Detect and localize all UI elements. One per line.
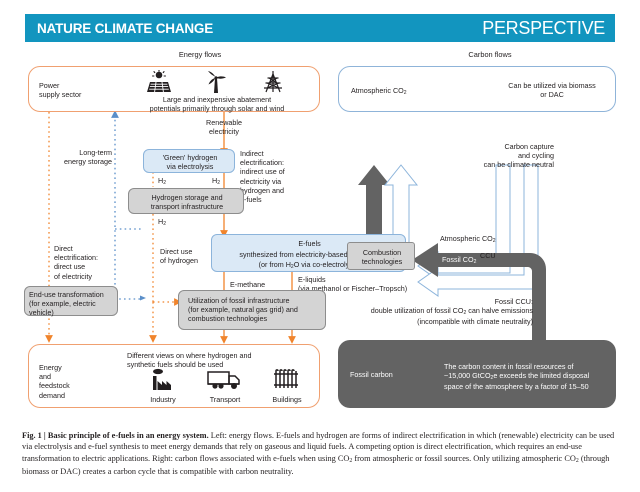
fossil-carbon-label: Fossil carbon	[350, 370, 393, 379]
combustion-technologies-label: Combustion technologies	[348, 248, 416, 266]
journal-name: NATURE CLIMATE CHANGE	[37, 21, 213, 36]
fossil-co2-supply-pipe	[412, 243, 546, 344]
h2-label-right: H2	[212, 176, 220, 187]
atmospheric-co2-box-label: Atmospheric CO2	[351, 86, 407, 97]
fossil-co2-arrow-label: Fossil CO2	[442, 255, 476, 266]
abatement-note: Large and inexpensive abatement potentia…	[117, 95, 317, 113]
fossil-co2-emission-arrow	[358, 165, 390, 244]
power-supply-sector-box: Power supply sector	[28, 66, 320, 112]
h2-label-lower: H2	[158, 217, 166, 228]
atmospheric-co2-box: Atmospheric CO2 Can be utilized via biom…	[338, 66, 616, 112]
long-term-storage-label: Long-term energy storage	[50, 148, 112, 166]
direct-electrification-label: Direct electrification: direct use of el…	[54, 244, 114, 281]
atmospheric-co2-arrow-label: Atmospheric CO2	[440, 234, 496, 245]
figure-canvas: Energy flows Power supply sector	[0, 44, 640, 426]
fossil-infrastructure-box: Utilization of fossil infrastructure (fo…	[178, 290, 326, 330]
indirect-electrification-label: Indirect electrification: indirect use o…	[240, 149, 298, 204]
ccu-loop-pipe	[418, 165, 538, 296]
industry-label: Industry	[137, 395, 189, 404]
fossil-infrastructure-label: Utilization of fossil infrastructure (fo…	[188, 296, 326, 324]
demand-note: Different views on where hydrogen and sy…	[127, 351, 317, 369]
h2-label-left: H2	[158, 176, 166, 187]
caption-title: Basic principle of e-fuels in an energy …	[48, 431, 209, 440]
ccu-label: CCU	[480, 251, 496, 260]
green-hydrogen-label: 'Green' hydrogen via electrolysis	[144, 153, 236, 171]
energy-feedstock-demand-box: Energy and feedstock demand Different vi…	[28, 344, 320, 408]
figure-caption: Fig. 1 | Basic principle of e-fuels in a…	[22, 430, 622, 477]
end-use-transformation-label: End-use transformation (for example, ele…	[29, 290, 121, 318]
hydrogen-storage-label: Hydrogen storage and transport infrastru…	[129, 193, 245, 211]
fossil-ccu-note: Fossil CCU:double utilization of fossil …	[350, 297, 533, 327]
power-supply-sector-label: Power supply sector	[39, 81, 81, 99]
carbon-capture-note: Carbon capture and cycling can be climat…	[472, 142, 554, 170]
buildings-label: Buildings	[259, 395, 315, 404]
renewable-electricity-label: Renewable electricity	[192, 118, 256, 136]
caption-sub-1: 2	[349, 458, 352, 464]
biomass-dac-note: Can be utilized via biomass or DAC	[497, 81, 607, 99]
journal-header-bar: NATURE CLIMATE CHANGE PERSPECTIVE	[25, 14, 615, 42]
caption-sub-2: 2	[576, 458, 579, 464]
demand-label: Energy and feedstock demand	[39, 363, 70, 400]
hydrogen-storage-box: Hydrogen storage and transport infrastru…	[128, 188, 244, 214]
fossil-carbon-box: Fossil carbon The carbon content in foss…	[338, 340, 616, 408]
green-hydrogen-box: 'Green' hydrogen via electrolysis	[143, 149, 235, 173]
atmospheric-co2-return-arrow	[385, 165, 417, 244]
e-methane-label: E-methane	[230, 280, 265, 289]
article-section-label: PERSPECTIVE	[482, 18, 605, 39]
left-panel-title: Energy flows	[140, 50, 260, 59]
end-use-transformation-box: End-use transformation (for example, ele…	[24, 286, 118, 316]
caption-figure-number: Fig. 1 |	[22, 431, 46, 440]
fossil-carbon-note: The carbon content in fossil resources o…	[444, 362, 610, 392]
transport-label: Transport	[197, 395, 253, 404]
right-panel-title: Carbon flows	[430, 50, 550, 59]
caption-body-2: from atmospheric or fossil sources. Only…	[352, 454, 576, 463]
combustion-technologies-box: Combustion technologies	[347, 242, 415, 270]
